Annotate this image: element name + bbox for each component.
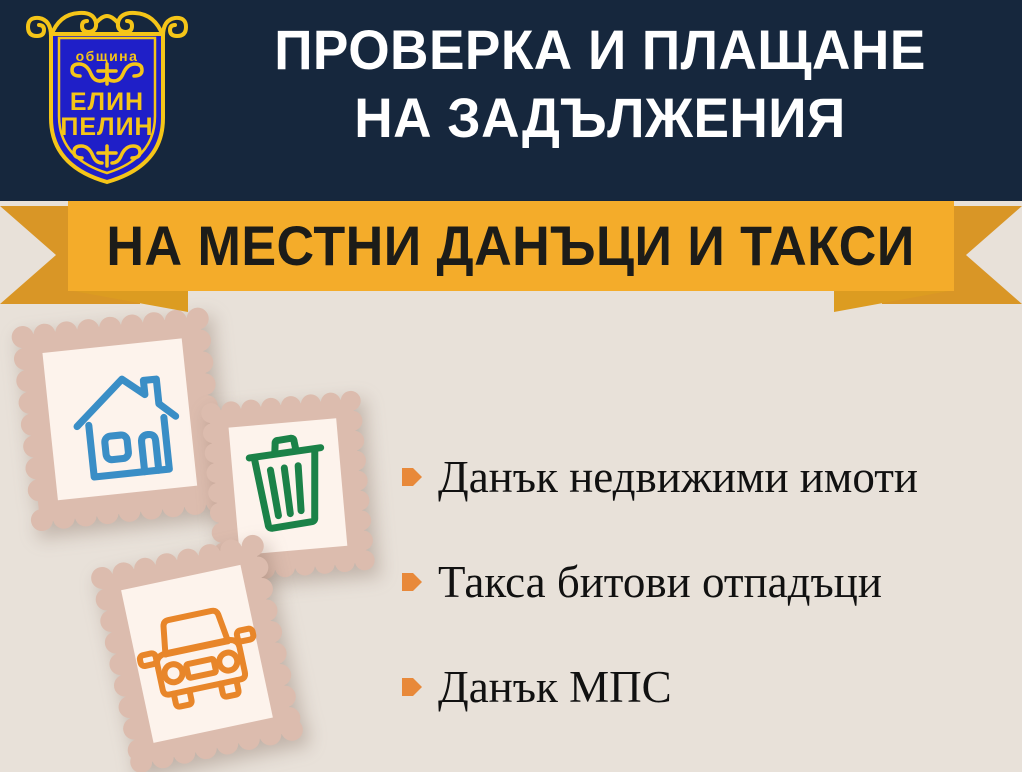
list-item[interactable]: Данък МПС bbox=[402, 634, 1012, 739]
ribbon-banner: НА МЕСТНИ ДАНЪЦИ И ТАКСИ bbox=[0, 198, 1022, 310]
poster-title: ПРОВЕРКА И ПЛАЩАНЕ НА ЗАДЪЛЖЕНИЯ bbox=[200, 16, 1000, 152]
title-line-2: НА ЗАДЪЛЖЕНИЯ bbox=[220, 84, 980, 152]
logo-small-text: община bbox=[76, 48, 139, 64]
car-stamp-svg bbox=[86, 528, 326, 772]
list-item[interactable]: Такса битови отпадъци bbox=[402, 529, 1012, 634]
tax-types-list: Данък недвижими имоти Такса битови отпад… bbox=[402, 424, 1012, 739]
arrow-bullet-icon bbox=[402, 675, 422, 699]
title-line-1: ПРОВЕРКА И ПЛАЩАНЕ bbox=[220, 16, 980, 84]
list-item-label: Данък МПС bbox=[438, 662, 672, 712]
ribbon-label: НА МЕСТНИ ДАНЪЦИ И ТАКСИ bbox=[107, 216, 915, 276]
list-item-label: Данък недвижими имоти bbox=[438, 452, 918, 502]
arrow-bullet-icon bbox=[402, 570, 422, 594]
logo-main-text-1: ЕЛИН bbox=[70, 88, 144, 116]
header-bar: община ЕЛИН ПЕЛИН bbox=[0, 0, 1022, 201]
logo-main-text-2: ПЕЛИН bbox=[60, 113, 153, 141]
stamp-card-vehicle bbox=[86, 528, 326, 772]
municipality-logo: община ЕЛИН ПЕЛИН bbox=[24, 6, 190, 188]
poster-canvas: Данък недвижими имоти Такса битови отпад… bbox=[0, 0, 1022, 772]
arrow-bullet-icon bbox=[402, 465, 422, 489]
list-item[interactable]: Данък недвижими имоти bbox=[402, 424, 1012, 529]
list-item-label: Такса битови отпадъци bbox=[438, 557, 882, 607]
ribbon-band: НА МЕСТНИ ДАНЪЦИ И ТАКСИ bbox=[68, 201, 954, 291]
